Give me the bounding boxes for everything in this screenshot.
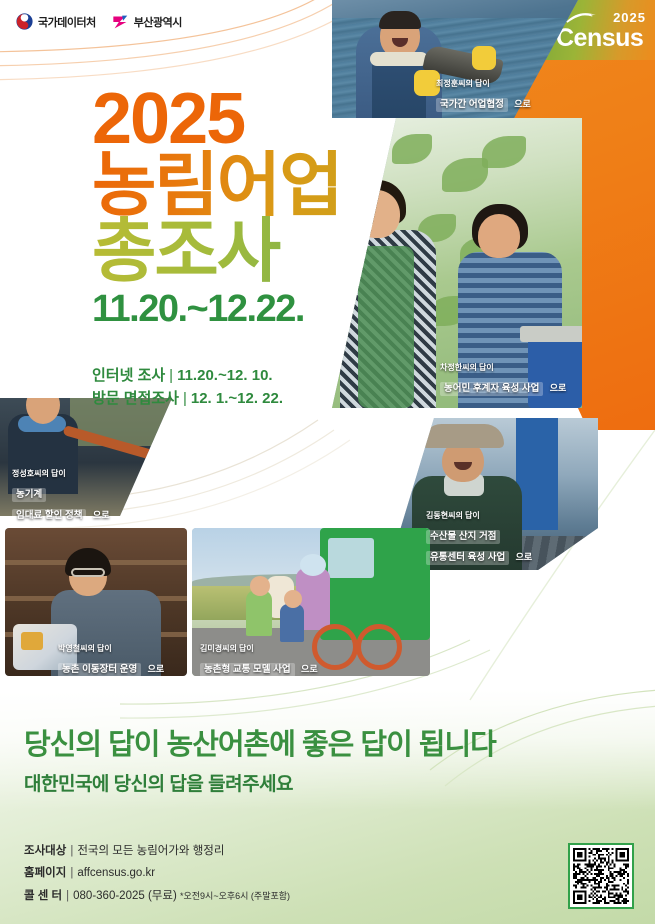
caption-policy: 농촌 이동장터 운영 xyxy=(58,663,141,677)
footer-bar: | xyxy=(66,890,69,902)
qr-code-matrix xyxy=(573,848,629,904)
taegeuk-icon xyxy=(16,13,33,30)
slogan-main: 당신의 답이 농산어촌에 좋은 답이 됩니다 xyxy=(24,728,496,763)
title-date-range: 11.20.~12.22. xyxy=(92,288,392,331)
schedule-value: 12. 1.~12. 22. xyxy=(191,390,283,407)
logo-busan-metropolitan-city[interactable]: 부산광역시 xyxy=(112,14,182,30)
footer-bar: | xyxy=(70,845,73,857)
footer-label: 조사대상 xyxy=(24,845,66,857)
census-badge-word: Census xyxy=(556,24,643,53)
caption-person: 김미경씨의 답이 xyxy=(200,644,254,654)
schedule-separator: | xyxy=(183,390,187,407)
caption-policy: 농기계 xyxy=(12,488,46,502)
title-line-agriculture: 농림어업 xyxy=(92,150,392,220)
footer-info: 조사대상|전국의 모든 농림어가와 행정리 홈페이지|affcensus.go.… xyxy=(24,840,290,907)
schedule-separator: | xyxy=(169,367,173,384)
caption-machinery-rental: 정성호씨의 답이 농기계 임대료 할인 정책 으로 xyxy=(12,462,109,524)
caption-suffix: 으로 xyxy=(93,510,110,521)
caption-policy-2: 임대료 할인 정책 xyxy=(12,509,86,523)
footer-value: 전국의 모든 농림어가와 행정리 xyxy=(77,845,224,857)
census-poster: 국가데이터처 부산광역시 2025 Census xyxy=(0,0,655,924)
header-logos: 국가데이터처 부산광역시 xyxy=(16,13,182,30)
schedule-value: 11.20.~12. 10. xyxy=(177,367,273,384)
census-badge-year: 2025 xyxy=(613,10,646,25)
footer-hours-note: *오전9시~오후6시 (주말포함) xyxy=(180,891,290,901)
caption-seafood-distribution: 김동현씨의 답이 수산물 산지 거점 유통센터 육성 사업 으로 xyxy=(426,504,532,566)
caption-person: 박영철씨의 답이 xyxy=(58,644,112,654)
caption-policy-2: 유통센터 육성 사업 xyxy=(426,551,509,565)
caption-person: 차정한씨의 답이 xyxy=(440,363,494,373)
caption-rural-transport: 김미경씨의 답이 농촌형 교통 모델 사업 으로 xyxy=(200,637,318,678)
caption-policy: 국가간 어업협정 xyxy=(436,98,508,112)
footer-row-callcenter: 콜 센 터|080-360-2025 (무료) *오전9시~오후6시 (주말포함… xyxy=(24,885,290,907)
caption-person: 정성호씨의 답이 xyxy=(12,469,66,479)
footer-row-target: 조사대상|전국의 모든 농림어가와 행정리 xyxy=(24,840,290,862)
logo-national-data-office[interactable]: 국가데이터처 xyxy=(16,13,96,30)
logo-label-busan: 부산광역시 xyxy=(134,14,182,30)
caption-suffix: 으로 xyxy=(550,383,567,394)
schedule-label: 인터넷 조사 xyxy=(92,367,165,384)
caption-successor-program: 차정한씨의 답이 농어민 후계자 육성 사업 으로 xyxy=(440,356,566,397)
footer-bar: | xyxy=(70,867,73,879)
caption-person: 최정훈씨의 답이 xyxy=(436,79,490,89)
footer-website-link[interactable]: affcensus.go.kr xyxy=(77,867,155,879)
survey-schedule: 인터넷 조사|11.20.~12. 10. 방문 면접조사|12. 1.~12.… xyxy=(92,364,283,411)
footer-label: 홈페이지 xyxy=(24,867,66,879)
slogan-sub: 대한민국에 당신의 답을 들려주세요 xyxy=(24,769,496,796)
schedule-label: 방문 면접조사 xyxy=(92,390,179,407)
caption-mobile-market: 박영철씨의 답이 농촌 이동장터 운영 으로 xyxy=(58,637,164,678)
caption-policy: 수산물 산지 거점 xyxy=(426,530,500,544)
caption-suffix: 으로 xyxy=(301,664,318,675)
schedule-row-internet: 인터넷 조사|11.20.~12. 10. xyxy=(92,364,283,387)
footer-label: 콜 센 터 xyxy=(24,890,62,902)
title-year: 2025 xyxy=(92,86,392,152)
footer-phone-number[interactable]: 080-360-2025 (무료) xyxy=(73,890,177,902)
logo-label-national-data-office: 국가데이터처 xyxy=(38,14,96,30)
caption-suffix: 으로 xyxy=(516,552,533,563)
caption-fishery-agreement: 최정훈씨의 답이 국가간 어업협정 으로 xyxy=(436,72,531,113)
title-line-census: 총조사 xyxy=(92,216,392,286)
schedule-row-interview: 방문 면접조사|12. 1.~12. 22. xyxy=(92,387,283,410)
caption-person: 김동현씨의 답이 xyxy=(426,511,480,521)
busan-symbol-icon xyxy=(112,14,129,30)
caption-policy: 농어민 후계자 육성 사업 xyxy=(440,382,543,396)
caption-suffix: 으로 xyxy=(514,99,531,110)
slogan-block: 당신의 답이 농산어촌에 좋은 답이 됩니다 대한민국에 당신의 답을 들려주세… xyxy=(24,728,496,796)
caption-suffix: 으로 xyxy=(148,664,165,675)
footer-row-homepage: 홈페이지|affcensus.go.kr xyxy=(24,862,290,884)
poster-title: 2025 농림어업 총조사 11.20.~12.22. xyxy=(92,86,392,331)
caption-policy: 농촌형 교통 모델 사업 xyxy=(200,663,295,677)
qr-code[interactable] xyxy=(568,843,634,909)
